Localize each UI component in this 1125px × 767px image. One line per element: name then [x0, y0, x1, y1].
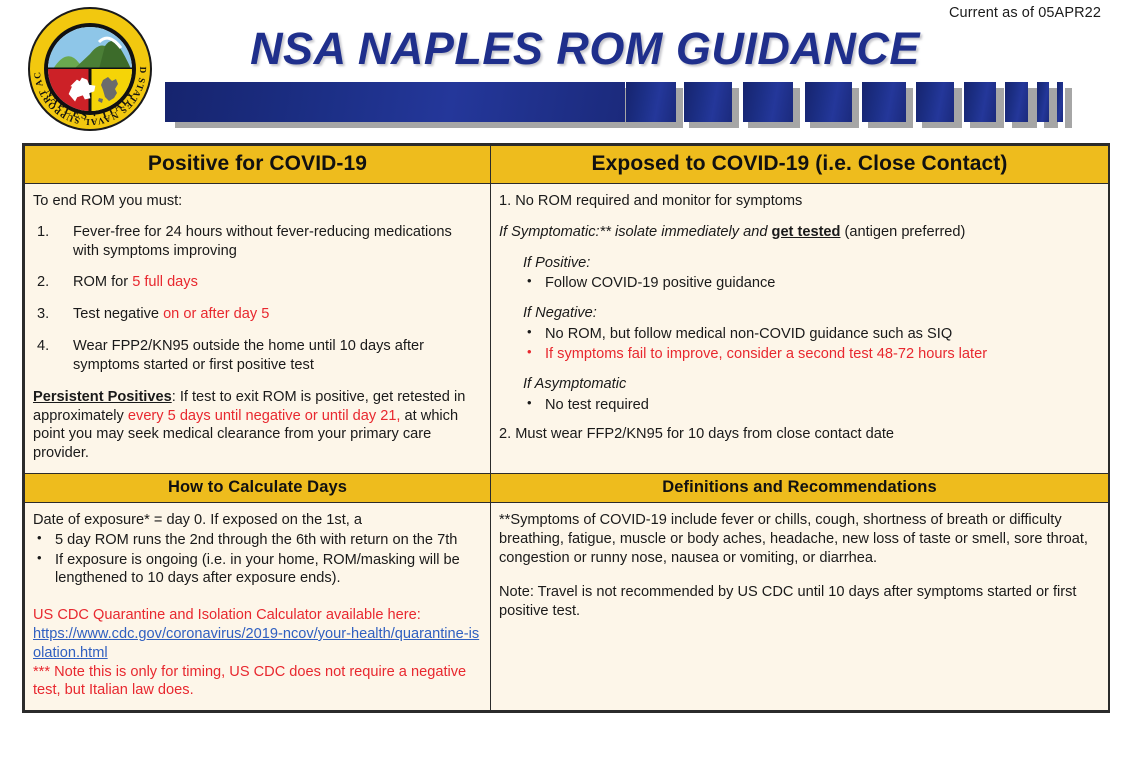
cdc-timing-note: *** Note this is only for timing, US CDC… [33, 663, 480, 701]
exposed-point-1: 1. No ROM required and monitor for sympt… [499, 192, 1098, 211]
list-item: 2. ROM for 5 full days [33, 273, 480, 292]
travel-note: Note: Travel is not recommended by US CD… [499, 583, 1098, 621]
persistent-positives-paragraph: Persistent Positives: If test to exit RO… [33, 388, 480, 463]
if-positive-label: If Positive: [523, 254, 1098, 273]
cdc-calculator-link[interactable]: https://www.cdc.gov/coronavirus/2019-nco… [33, 626, 479, 661]
list-text: Test negative [73, 306, 163, 322]
exposed-symptomatic-line: If Symptomatic:** isolate immediately an… [499, 223, 1098, 242]
list-item: No ROM, but follow medical non-COVID gui… [523, 325, 1098, 344]
list-text: Wear FPP2/KN95 outside the home until 10… [73, 338, 424, 373]
decorative-bar [165, 82, 1055, 126]
guidance-table-wrapper: Positive for COVID-19 Exposed to COVID-1… [22, 143, 1110, 713]
if-positive-bullets: Follow COVID-19 positive guidance [523, 274, 1098, 293]
if-asymptomatic-bullets: No test required [523, 396, 1098, 415]
page-header: Current as of 05APR22 [0, 0, 1125, 140]
table-header-row-1: Positive for COVID-19 Exposed to COVID-1… [25, 146, 1109, 184]
list-item: 3. Test negative on or after day 5 [33, 305, 480, 324]
cell-definitions-recommendations: **Symptoms of COVID-19 include fever or … [491, 502, 1109, 710]
list-item: 5 day ROM runs the 2nd through the 6th w… [33, 531, 480, 550]
persistent-positives-red: every 5 days until negative or until day… [128, 408, 401, 424]
page-title: NSA NAPLES ROM GUIDANCE [0, 23, 1125, 75]
cdc-calculator-line: US CDC Quarantine and Isolation Calculat… [33, 606, 480, 625]
header-exposed-to-covid: Exposed to COVID-19 (i.e. Close Contact) [491, 146, 1109, 184]
table-body-row-2: Date of exposure* = day 0. If exposed on… [25, 502, 1109, 710]
list-text-red: 5 full days [132, 274, 198, 290]
list-text-red: on or after day 5 [163, 306, 269, 322]
guidance-table: Positive for COVID-19 Exposed to COVID-1… [24, 145, 1109, 711]
list-number: 2. [37, 273, 49, 292]
if-positive-group: If Positive: Follow COVID-19 positive gu… [523, 254, 1098, 294]
symptomatic-lead: If Symptomatic:** isolate immediately an… [499, 224, 772, 240]
get-tested-emphasis: get tested [772, 224, 841, 240]
if-negative-label: If Negative: [523, 304, 1098, 323]
header-how-to-calculate-days: How to Calculate Days [25, 473, 491, 502]
list-item-red: If symptoms fail to improve, consider a … [523, 345, 1098, 364]
current-as-of-label: Current as of 05APR22 [949, 5, 1101, 21]
positive-lead: To end ROM you must: [33, 192, 480, 211]
symptoms-definition: **Symptoms of COVID-19 include fever or … [499, 511, 1098, 567]
if-asymptomatic-label: If Asymptomatic [523, 375, 1098, 394]
if-asymptomatic-group: If Asymptomatic No test required [523, 375, 1098, 415]
cell-how-to-calculate-days: Date of exposure* = day 0. If exposed on… [25, 502, 491, 710]
list-number: 3. [37, 305, 49, 324]
list-item: No test required [523, 396, 1098, 415]
cell-exposed-guidance: 1. No ROM required and monitor for sympt… [491, 184, 1109, 474]
list-text: ROM for [73, 274, 132, 290]
list-number: 1. [37, 223, 49, 242]
positive-steps-list: 1. Fever-free for 24 hours without fever… [33, 223, 480, 375]
list-number: 4. [37, 337, 49, 356]
calc-lead: Date of exposure* = day 0. If exposed on… [33, 511, 480, 530]
list-text: Fever-free for 24 hours without fever-re… [73, 224, 452, 259]
list-item: 1. Fever-free for 24 hours without fever… [33, 223, 480, 261]
persistent-positives-label: Persistent Positives [33, 389, 172, 405]
table-body-row-1: To end ROM you must: 1. Fever-free for 2… [25, 184, 1109, 474]
list-item: 4. Wear FPP2/KN95 outside the home until… [33, 337, 480, 375]
header-definitions-recommendations: Definitions and Recommendations [491, 473, 1109, 502]
if-negative-group: If Negative: No ROM, but follow medical … [523, 304, 1098, 363]
cell-positive-guidance: To end ROM you must: 1. Fever-free for 2… [25, 184, 491, 474]
calc-bullets: 5 day ROM runs the 2nd through the 6th w… [33, 531, 480, 588]
list-item: If exposure is ongoing (i.e. in your hom… [33, 551, 480, 589]
exposed-point-2: 2. Must wear FFP2/KN95 for 10 days from … [499, 425, 1098, 444]
header-positive-for-covid: Positive for COVID-19 [25, 146, 491, 184]
list-item: Follow COVID-19 positive guidance [523, 274, 1098, 293]
table-header-row-2: How to Calculate Days Definitions and Re… [25, 473, 1109, 502]
symptomatic-tail: (antigen preferred) [840, 224, 965, 240]
symptomatic-outcomes: If Positive: Follow COVID-19 positive gu… [499, 254, 1098, 415]
if-negative-bullets: No ROM, but follow medical non-COVID gui… [523, 325, 1098, 364]
